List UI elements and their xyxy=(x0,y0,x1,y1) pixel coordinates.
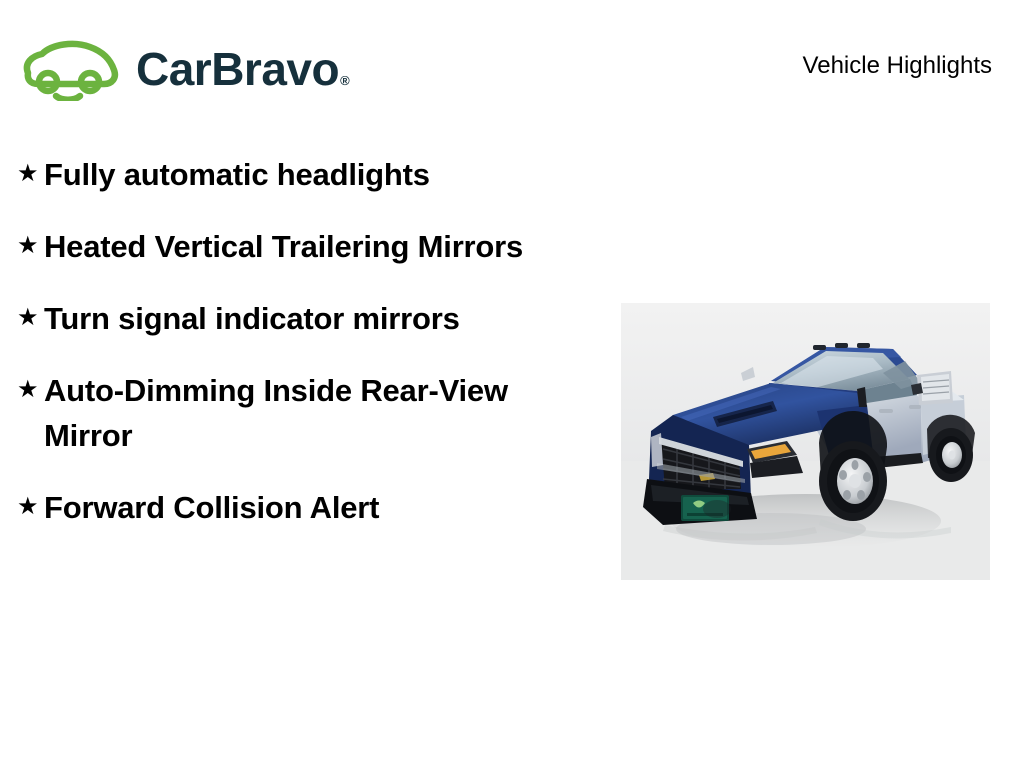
car-side-outline-icon xyxy=(16,37,128,101)
star-bullet-icon: ★ xyxy=(12,485,44,529)
brand-wordmark: CarBravo® xyxy=(136,46,349,92)
vehicle-photo-image xyxy=(621,303,990,580)
vehicle-photo xyxy=(621,303,990,580)
highlight-label: Forward Collision Alert xyxy=(44,485,379,530)
star-bullet-icon: ★ xyxy=(12,296,44,340)
star-bullet-icon: ★ xyxy=(12,224,44,268)
star-bullet-icon: ★ xyxy=(12,152,44,196)
vehicle-highlights-list: ★ Fully automatic headlights ★ Heated Ve… xyxy=(12,152,612,530)
list-item: ★ Heated Vertical Trailering Mirrors xyxy=(12,224,612,269)
list-item: ★ Fully automatic headlights xyxy=(12,152,612,197)
page-title: Vehicle Highlights xyxy=(803,52,992,80)
highlight-label: Heated Vertical Trailering Mirrors xyxy=(44,224,523,269)
list-item: ★ Turn signal indicator mirrors xyxy=(12,296,612,341)
list-item: ★ Auto-Dimming Inside Rear-View Mirror xyxy=(12,368,612,458)
star-bullet-icon: ★ xyxy=(12,368,44,412)
brand-name: CarBravo xyxy=(136,43,339,95)
highlight-label: Fully automatic headlights xyxy=(44,152,430,197)
highlight-label: Auto-Dimming Inside Rear-View Mirror xyxy=(44,368,544,458)
list-item: ★ Forward Collision Alert xyxy=(12,485,612,530)
brand-trademark-symbol: ® xyxy=(340,73,349,88)
brand-logo[interactable]: CarBravo® xyxy=(16,36,349,102)
highlight-label: Turn signal indicator mirrors xyxy=(44,296,460,341)
page-header: CarBravo® Vehicle Highlights xyxy=(0,0,1024,128)
